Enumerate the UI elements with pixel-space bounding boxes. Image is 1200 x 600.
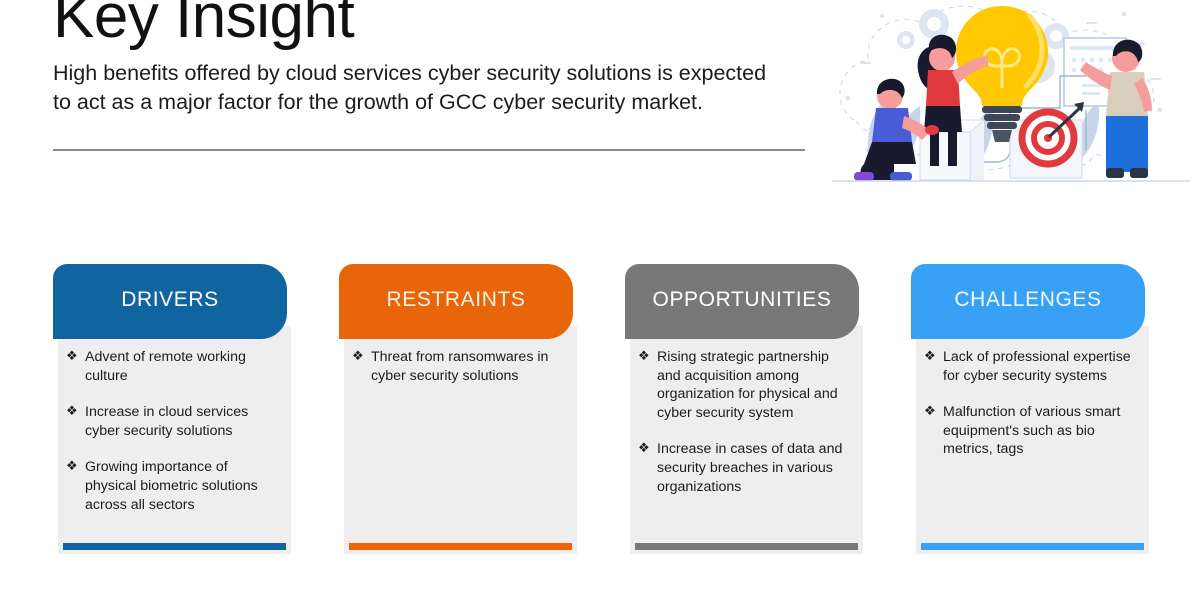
diamond-bullet-icon: ❖	[924, 402, 936, 420]
cards-row: DRIVERS ❖Advent of remote working cultur…	[0, 264, 1200, 554]
card-bottom-bar-opportunities	[635, 543, 858, 550]
card-bottom-bar-drivers	[63, 543, 286, 550]
card-body-restraints: ❖Threat from ransomwares in cyber securi…	[344, 326, 577, 554]
list-item-text: Threat from ransomwares in cyber securit…	[371, 349, 548, 384]
diamond-bullet-icon: ❖	[66, 457, 78, 475]
card-challenges[interactable]: CHALLENGES ❖Lack of professional experti…	[911, 264, 1149, 554]
page-subtitle: High benefits offered by cloud services …	[53, 59, 788, 116]
list-item: ❖Increase in cases of data and security …	[636, 440, 851, 496]
diamond-bullet-icon: ❖	[638, 439, 650, 457]
page-title: Key Insight	[53, 0, 813, 49]
list-item-text: Malfunction of various smart equipment's…	[943, 404, 1120, 457]
card-header-drivers: DRIVERS	[53, 264, 287, 339]
card-body-challenges: ❖Lack of professional expertise for cybe…	[916, 326, 1149, 554]
card-list-drivers: ❖Advent of remote working culture ❖Incre…	[64, 348, 279, 514]
card-title-challenges: CHALLENGES	[954, 289, 1101, 310]
card-opportunities[interactable]: OPPORTUNITIES ❖Rising strategic partners…	[625, 264, 863, 554]
diamond-bullet-icon: ❖	[352, 347, 364, 365]
card-bottom-bar-challenges	[921, 543, 1144, 550]
teamwork-idea-lightbulb-illustration	[824, 0, 1200, 192]
list-item-text: Lack of professional expertise for cyber…	[943, 349, 1131, 384]
list-item: ❖Growing importance of physical biometri…	[64, 458, 279, 514]
diamond-bullet-icon: ❖	[638, 347, 650, 365]
card-header-challenges: CHALLENGES	[911, 264, 1145, 339]
card-title-drivers: DRIVERS	[121, 289, 219, 310]
list-item-text: Advent of remote working culture	[85, 349, 246, 384]
header-block: Key Insight High benefits offered by clo…	[53, 0, 813, 116]
card-title-opportunities: OPPORTUNITIES	[653, 289, 832, 310]
diamond-bullet-icon: ❖	[66, 347, 78, 365]
card-list-restraints: ❖Threat from ransomwares in cyber securi…	[350, 348, 565, 385]
card-list-challenges: ❖Lack of professional expertise for cybe…	[922, 348, 1137, 459]
list-item: ❖Malfunction of various smart equipment'…	[922, 403, 1137, 459]
list-item-text: Increase in cases of data and security b…	[657, 441, 842, 494]
list-item-text: Growing importance of physical biometric…	[85, 459, 258, 512]
list-item: ❖Rising strategic partnership and acquis…	[636, 348, 851, 422]
list-item: ❖Threat from ransomwares in cyber securi…	[350, 348, 565, 385]
card-header-opportunities: OPPORTUNITIES	[625, 264, 859, 339]
list-item: ❖Increase in cloud services cyber securi…	[64, 403, 279, 440]
list-item: ❖Advent of remote working culture	[64, 348, 279, 385]
card-drivers[interactable]: DRIVERS ❖Advent of remote working cultur…	[53, 264, 291, 554]
card-body-drivers: ❖Advent of remote working culture ❖Incre…	[58, 326, 291, 554]
diamond-bullet-icon: ❖	[924, 347, 936, 365]
diamond-bullet-icon: ❖	[66, 402, 78, 420]
card-bottom-bar-restraints	[349, 543, 572, 550]
card-title-restraints: RESTRAINTS	[386, 289, 525, 310]
card-list-opportunities: ❖Rising strategic partnership and acquis…	[636, 348, 851, 496]
card-restraints[interactable]: RESTRAINTS ❖Threat from ransomwares in c…	[339, 264, 577, 554]
list-item: ❖Lack of professional expertise for cybe…	[922, 348, 1137, 385]
list-item-text: Increase in cloud services cyber securit…	[85, 404, 248, 439]
card-header-restraints: RESTRAINTS	[339, 264, 573, 339]
list-item-text: Rising strategic partnership and acquisi…	[657, 349, 838, 421]
header-divider	[53, 149, 805, 151]
card-body-opportunities: ❖Rising strategic partnership and acquis…	[630, 326, 863, 554]
